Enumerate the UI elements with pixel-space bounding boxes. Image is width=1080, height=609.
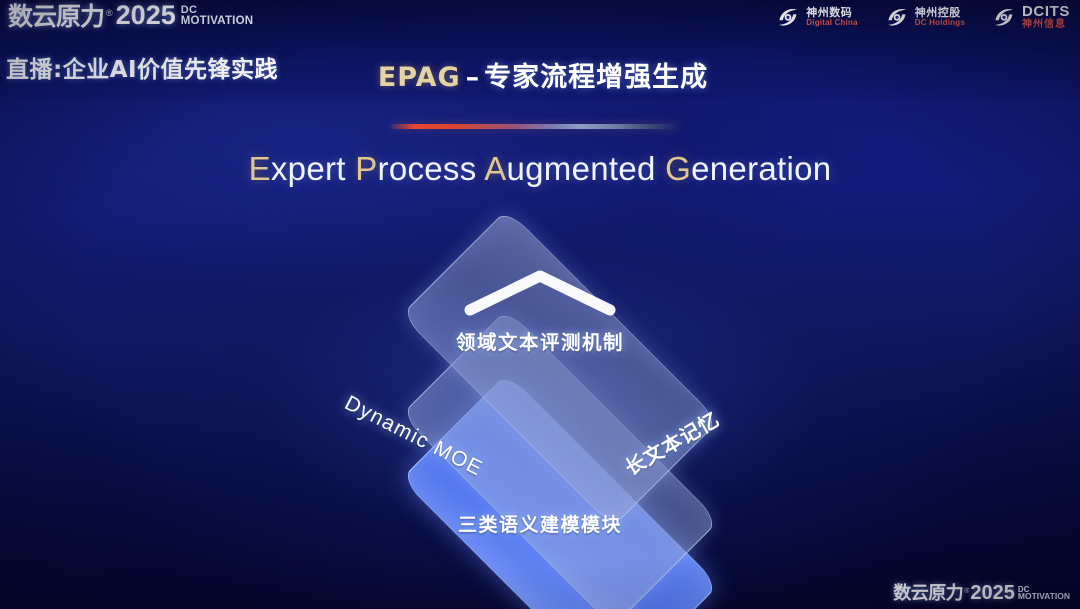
brand-motivation-label: MOTIVATION: [181, 16, 253, 26]
subtitle-part: E: [249, 150, 271, 187]
title-divider: [391, 124, 679, 129]
brand-year: 2025: [970, 583, 1015, 603]
partner-name-en: DC Holdings: [915, 19, 965, 27]
subtitle-part: rocess: [378, 150, 485, 187]
layer-stack-diagram: 领域文本评测机制 Dynamic MOE 长文本记忆 三类语义建模模块: [280, 222, 800, 582]
partner-logo-digital-china: 神州数码 Digital China: [775, 4, 858, 30]
partner-name-en: Digital China: [806, 19, 858, 27]
partner-logo-dc-holdings: 神州控股 DC Holdings: [884, 4, 965, 30]
diagram-layer-bottom-label: 三类语义建模模块: [280, 510, 800, 537]
partner-name-cn: DCITS: [1022, 4, 1070, 20]
brand-registered-mark: ®: [106, 8, 113, 18]
brand-logo-top-left: 数云原力 ® 2025 DC MOTIVATION: [8, 2, 253, 29]
subtitle-part: xpert: [271, 150, 355, 187]
partner-logo-dcits: DCITS 神州信息: [991, 4, 1070, 30]
subtitle-part: P: [355, 150, 377, 187]
page-title: EPAG–专家流程增强生成: [3, 55, 1080, 94]
brand-registered-mark: ®: [964, 588, 969, 595]
partner-name-cn: 神州控股: [915, 7, 965, 19]
title-dash: –: [461, 62, 485, 93]
swirl-logo-icon: [884, 4, 910, 30]
brand-motivation-label: MOTIVATION: [1018, 593, 1070, 601]
slide-canvas: 数云原力 ® 2025 DC MOTIVATION 直播:企业AI价值先锋实践 …: [0, 0, 1080, 609]
brand-dc-motivation: DC MOTIVATION: [1018, 586, 1070, 601]
partner-text-dc-holdings: 神州控股 DC Holdings: [915, 7, 965, 27]
title-abbreviation: EPAG: [378, 62, 461, 93]
partner-name-cn: 神州数码: [806, 7, 858, 19]
subtitle-part: G: [665, 150, 691, 187]
page-subtitle: Expert Process Augmented Generation: [0, 150, 1080, 188]
partner-logo-group: 神州数码 Digital China 神州控股 DC Holdings: [775, 4, 1070, 30]
partner-text-dcits: DCITS 神州信息: [1022, 4, 1070, 30]
partner-name-en: 神州信息: [1022, 20, 1070, 31]
brand-dc-motivation: DC MOTIVATION: [181, 6, 253, 26]
brand-logo-bottom-right: 数云原力 ® 2025 DC MOTIVATION: [893, 583, 1070, 603]
partner-text-digital-china: 神州数码 Digital China: [806, 7, 858, 27]
subtitle-part: eneration: [691, 150, 831, 187]
swirl-logo-icon: [775, 4, 801, 30]
brand-name-cn: 数云原力: [893, 585, 963, 603]
subtitle-part: ugmented: [507, 150, 666, 187]
subtitle-part: A: [484, 150, 506, 187]
brand-year: 2025: [116, 2, 176, 29]
swirl-logo-icon: [991, 4, 1017, 30]
brand-name-cn: 数云原力: [8, 4, 104, 29]
diagram-layer-top-label: 领域文本评测机制: [280, 326, 800, 355]
title-chinese: 专家流程增强生成: [484, 62, 708, 93]
